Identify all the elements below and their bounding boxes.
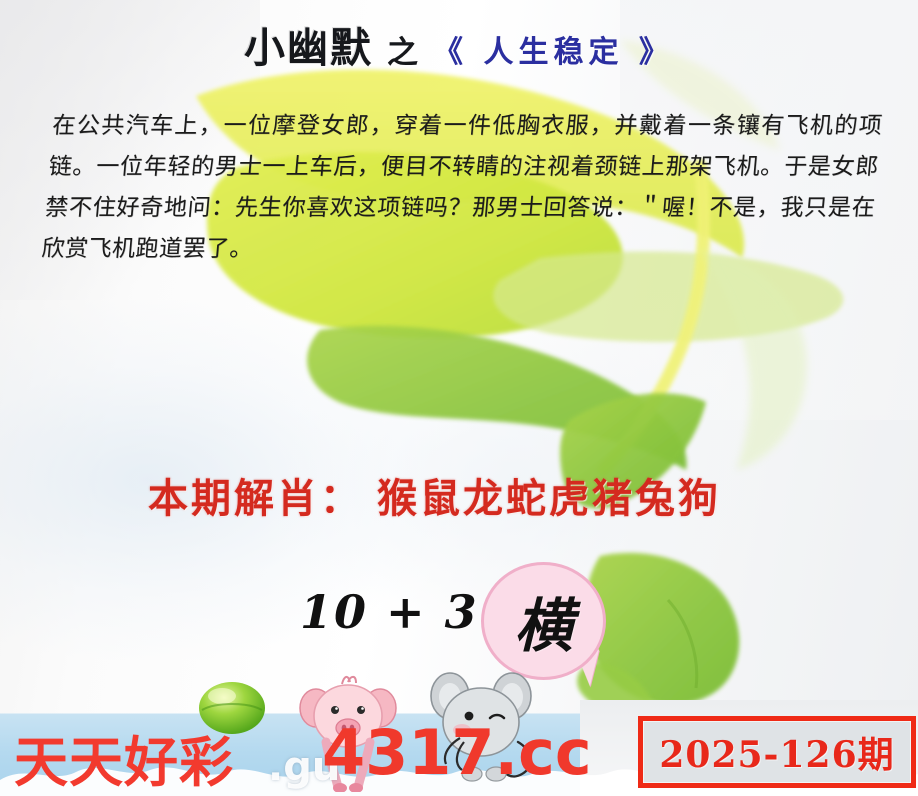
poster-canvas: 小幽默 之 《 人生稳定 》 在公共汽车上，一位摩登女郎，穿着一件低胸衣服，并戴… (0, 0, 918, 796)
zodiac-label: 本期解肖： (148, 475, 363, 522)
issue-number-badge: 2025-126期 (638, 716, 916, 788)
joke-body-text: 在公共汽车上，一位摩登女郎，穿着一件低胸衣服，并戴着一条镶有飞机的项链。一位年轻… (40, 106, 884, 270)
zodiac-prediction-line: 本期解肖：猴鼠龙蛇虎猪兔狗 (148, 466, 721, 524)
answer-speech-bubble: 横 (481, 562, 606, 680)
title-main: 小幽默 (244, 14, 373, 74)
poster-header: 小幽默 之 《 人生稳定 》 (0, 14, 918, 74)
zodiac-animals: 猴鼠龙蛇虎猪兔狗 (377, 475, 721, 522)
watermark-domain: 4317.cc (322, 716, 592, 789)
issue-number-text: 2025-126期 (659, 726, 894, 778)
title-subtitle: 《 人生稳定 》 (433, 27, 674, 74)
watermark-brand: 天天好彩 (14, 718, 234, 796)
equation-answer: 横 (514, 579, 572, 663)
title-connector: 之 (387, 27, 419, 74)
